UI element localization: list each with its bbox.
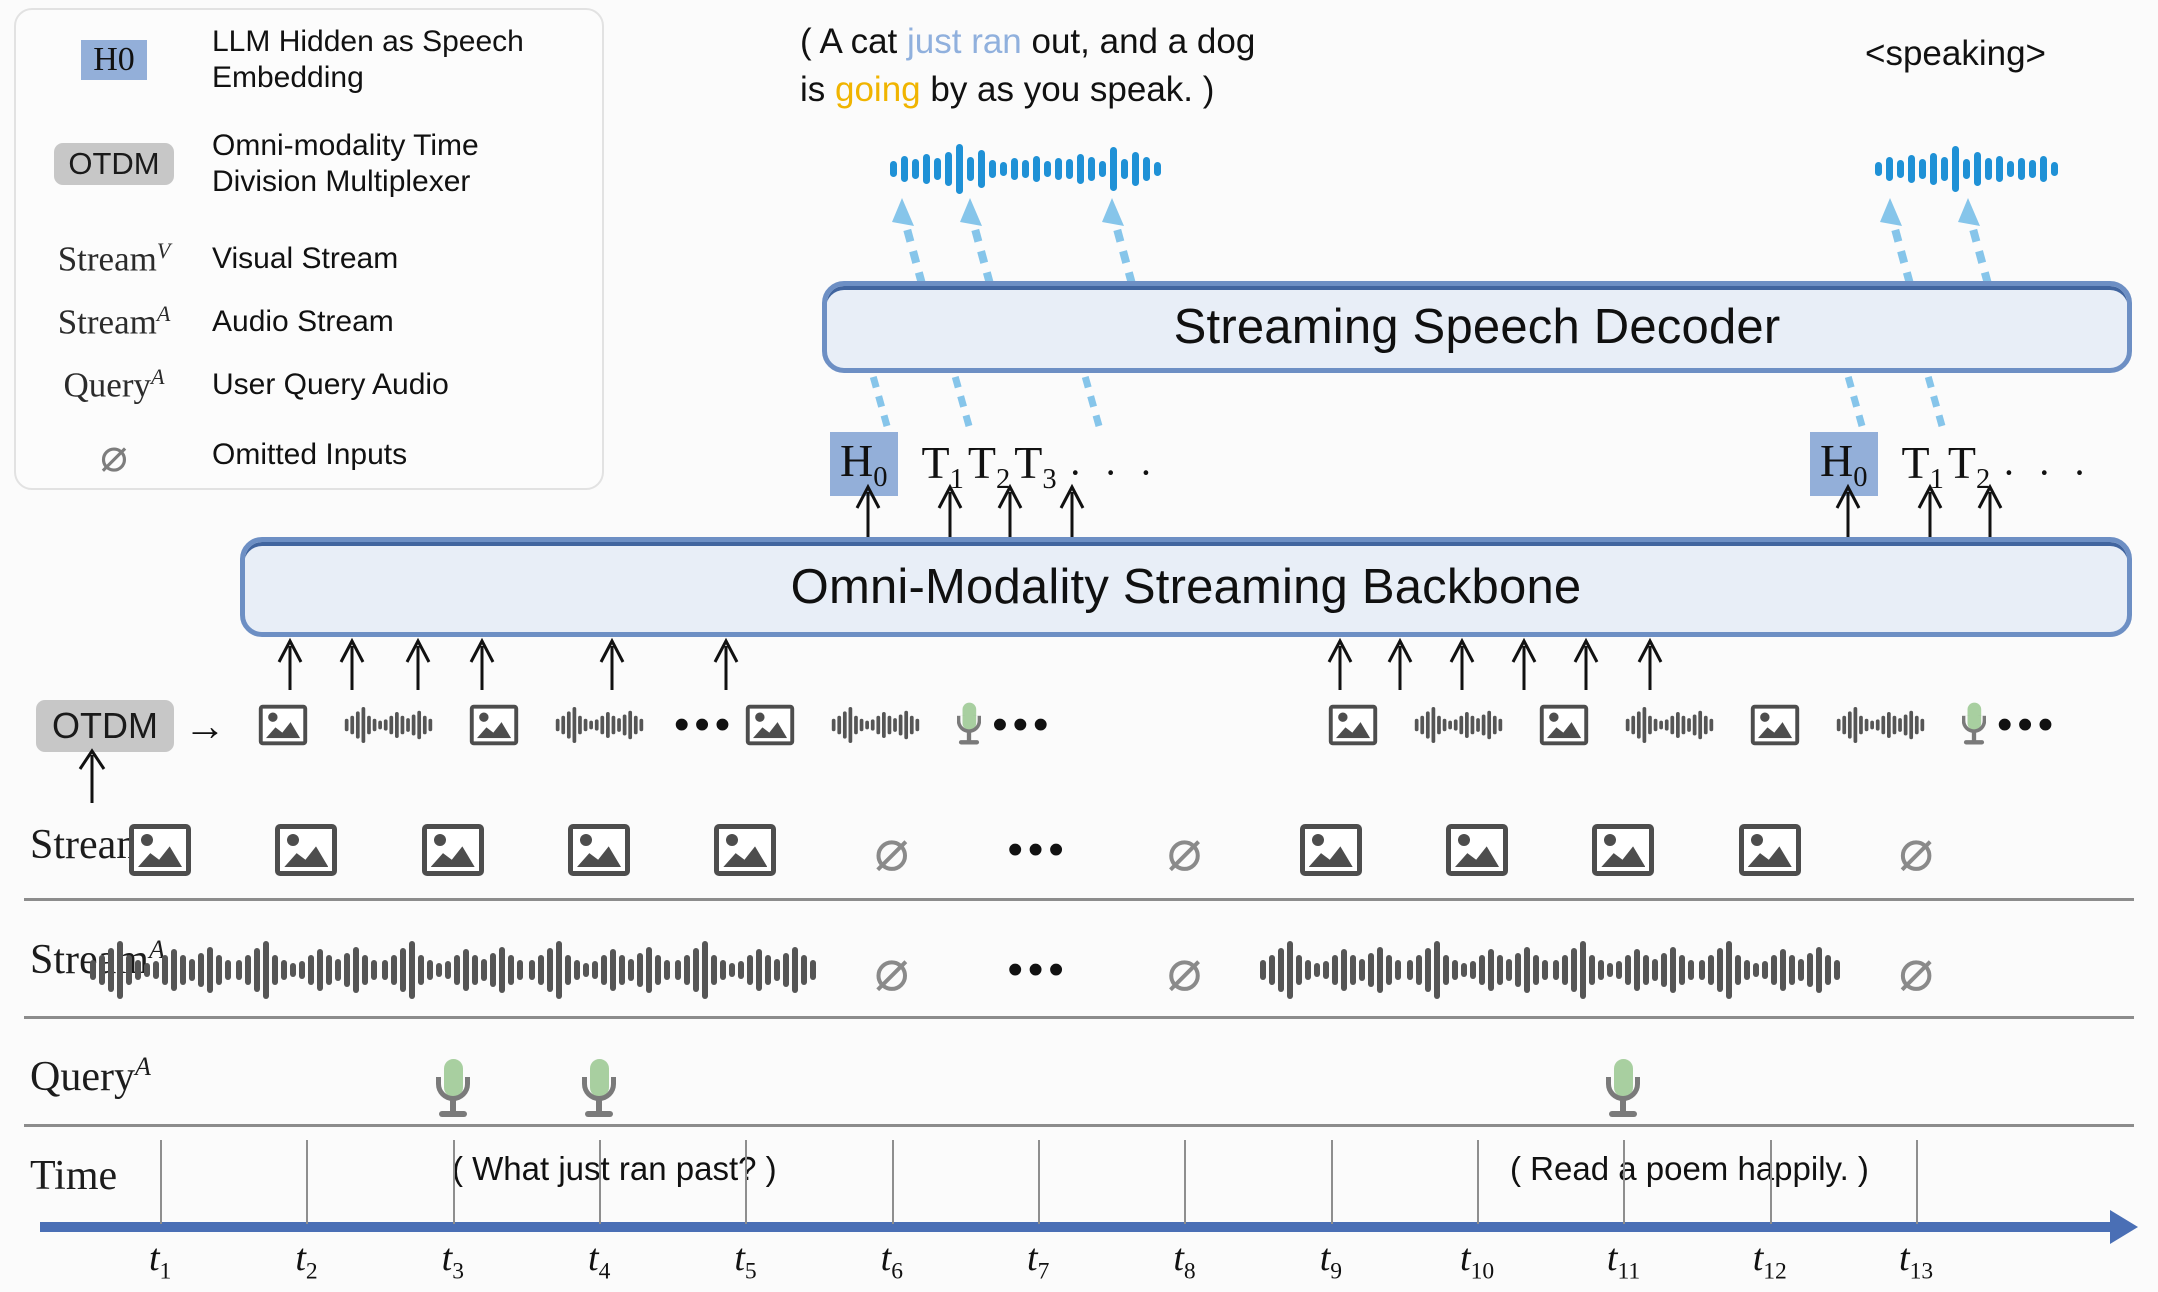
axis-tick [1770,1140,1772,1224]
waveform-bar [412,714,416,735]
waveform-bar [1876,719,1880,730]
waveform-bar [1452,960,1458,980]
audio-waveform-icon [236,939,377,1001]
axis-tick [1916,1140,1918,1224]
waveform-bar [216,955,222,985]
waveform-bar [1314,963,1320,977]
axis-tick-label: t10 [1460,1236,1494,1286]
waveform-bar [378,721,382,730]
waveform-bar [1066,159,1073,179]
waveform-bar [427,960,433,980]
waveform-bar [317,949,323,991]
image-frame-icon [1592,824,1654,876]
waveform-bar [1077,154,1084,184]
waveform-bar [1562,955,1568,985]
waveform-bar [1919,159,1926,179]
waveform-bar [1648,716,1652,735]
waveform-bar [693,948,699,992]
waveform-bar [1930,153,1937,185]
legend-item-stream-a: StreamA Audio Stream [16,301,394,343]
waveform-bar [1415,719,1419,731]
waveform-bar [1816,947,1822,993]
axis-tick-label: t11 [1607,1236,1640,1286]
waveform-bar [901,156,908,182]
axis-tick [306,1140,308,1224]
axis-tick-label: t6 [881,1236,903,1286]
waveform-bar [1825,955,1831,985]
image-frame-icon [470,705,518,746]
divider-2 [24,1016,2134,1019]
otdm-arrow-icon: → [184,702,226,750]
waveform-bar [1425,948,1431,992]
waveform-bar [600,716,604,735]
token-arrow-icon [995,482,1025,540]
waveform-bar [417,711,421,740]
waveform-bar [810,960,816,980]
waveform-bar [1661,953,1667,987]
waveform-bar [765,955,771,985]
image-frame-icon [422,824,484,876]
waveform-bar [1626,719,1630,731]
waveform-bar [1497,955,1503,985]
waveform-bar [1332,955,1338,985]
caption-query-2: ( Read a poem happily. ) [1510,1150,1869,1188]
time-axis-line [40,1222,2118,1232]
axis-tick-label: t13 [1899,1236,1933,1286]
waveform-bar [171,949,177,991]
audio-waveform-icon [1407,939,1548,1001]
waveform-bar [1443,719,1447,731]
waveform-bar [1652,959,1658,981]
waveform-bar [1432,707,1436,743]
waveform-bar [409,941,415,999]
waveform-bar [584,719,588,731]
waveform-bar [1055,158,1062,180]
waveform-bar [538,955,544,985]
waveform-bar [308,955,314,985]
waveform-bar [1011,158,1018,180]
waveform-bar [1359,959,1365,981]
legend-label-query-a: User Query Audio [212,367,449,403]
speech-line-1: ( A cat just ran out, and a dog [800,18,1370,66]
waveform-bar [978,150,985,188]
audio-waveform-icon [1260,939,1401,1001]
waveform-bar [1744,960,1750,980]
waveform-bar [1898,718,1902,732]
axis-tick [1623,1140,1625,1224]
waveform-bar [967,157,974,181]
waveform-bar [634,716,638,735]
axis-tick [160,1140,162,1224]
waveform-bar [1659,721,1663,730]
waveform-bar [1699,960,1705,980]
waveform-bar [574,960,580,980]
speech-seg-2a: is [800,70,835,109]
waveform-bar [1634,949,1640,991]
waveform-bar [890,161,897,177]
waveform-bar [454,955,460,985]
axis-tick [892,1140,894,1224]
token-to-decoder-arrow-icon [1069,372,1115,430]
waveform-bar [849,707,853,743]
waveform-bar [1368,953,1374,987]
omitted-glyph-icon: ⌀ [16,428,212,482]
decoder-to-audio-arrow-icon [884,196,940,288]
divider-1 [24,898,2134,901]
stream-v-base: Stream [58,240,157,279]
waveform-bar [1407,960,1413,980]
waveform-bar [395,712,399,738]
waveform-bar [1341,949,1347,991]
axis-tick [453,1140,455,1224]
waveform-bar [373,719,377,731]
streaming-speech-decoder-box: Streaming Speech Decoder [822,281,2132,373]
waveform-bar [384,719,388,730]
waveform-bar [1643,707,1647,743]
waveform-bar [675,960,681,980]
waveform-bar [401,716,405,735]
waveform-bar [1985,158,1992,180]
waveform-bar [639,719,643,731]
waveform-bar [628,711,632,740]
row-label-time: Time [30,1152,117,1200]
waveform-bar [180,955,186,985]
waveform-bar [1859,716,1863,735]
waveform-bar [923,154,930,184]
waveform-bar [1434,941,1440,999]
waveform-bar [263,941,269,999]
waveform-bar [556,719,560,731]
waveform-bar [888,716,892,735]
image-frame-icon [746,705,794,746]
waveform-bar [362,955,368,985]
waveform-bar [389,716,393,735]
legend-item-h0: H0 LLM Hidden as Speech Embedding [16,24,572,96]
waveform-bar [1437,716,1441,735]
otdm-chip-label: OTDM [54,143,173,185]
waveform-bar [899,714,903,735]
waveform-bar [1881,716,1885,735]
waveform-bar [472,955,478,985]
waveform-bar [1726,941,1732,999]
decoder-to-audio-arrow-icon [1950,196,2006,288]
waveform-bar [623,714,627,735]
waveform-bar [423,716,427,735]
waveform-bar [646,947,652,993]
waveform-bar [529,960,535,980]
audio-waveform-icon [1553,939,1694,1001]
waveform-bar [1395,960,1401,980]
otdm-chip-icon: OTDM [16,143,212,185]
token-to-decoder-arrow-icon [857,372,903,430]
speaking-tag-label: <speaking> [1865,34,2046,74]
waveform-bar [1952,146,1959,192]
waveform-bar [436,963,442,977]
omitted-input-icon: ⌀ [874,941,909,999]
waveform-bar [1670,947,1676,993]
input-arrow-icon [1635,636,1665,692]
token-ellipsis-right: · · · [1992,449,2092,496]
waveform-bar [589,721,593,730]
waveform-bar [1542,960,1548,980]
waveform-bar [1461,963,1467,977]
waveform-bar [882,712,886,738]
waveform-bar [1465,712,1469,738]
waveform-bar [1110,147,1117,191]
waveform-bar [592,961,598,979]
ellipsis-marker: ••• [1008,945,1069,995]
output-waveform-right [1875,140,2058,198]
waveform-bar [1350,955,1356,985]
waveform-bar [1482,714,1486,735]
waveform-bar [1842,716,1846,735]
waveform-bar [916,719,920,731]
otdm-input-arrow-icon [72,745,112,805]
query-a-symbol: QueryA [16,364,212,406]
input-arrow-icon [1325,636,1355,692]
waveform-bar [481,959,487,981]
axis-tick [1477,1140,1479,1224]
waveform-bar [1479,955,1485,985]
axis-tick-label: t8 [1173,1236,1195,1286]
waveform-bar [877,716,881,735]
microphone-icon [580,1059,618,1121]
waveform-bar [738,961,744,979]
waveform-bar [1631,716,1635,735]
axis-tick [1038,1140,1040,1224]
waveform-bar [1420,716,1424,735]
speech-seg-2c: by as you speak. ) [921,70,1215,109]
waveform-bar [344,953,350,987]
waveform-bar [1687,718,1691,732]
legend-item-omitted: ⌀ Omitted Inputs [16,428,407,482]
waveform-bar [1132,152,1139,186]
audio-waveform-icon [556,706,643,744]
waveform-bar [499,947,505,993]
waveform-bar [1143,157,1150,181]
waveform-bar [490,953,496,987]
audio-waveform-icon [832,706,919,744]
legend-label-stream-v: Visual Stream [212,241,398,277]
h0-chip-icon: H0 [16,40,212,80]
waveform-bar [1287,941,1293,999]
audio-waveform-icon [382,939,523,1001]
waveform-bar [1260,960,1266,980]
waveform-bar [350,716,354,735]
omitted-input-icon: ⌀ [1899,821,1934,879]
image-frame-icon [275,824,337,876]
omni-modality-streaming-backbone-box: Omni-Modality Streaming Backbone [240,537,2132,637]
waveform-bar [606,712,610,738]
omitted-input-icon: ⌀ [874,821,909,879]
waveform-bar [1886,157,1893,181]
waveform-bar [1607,963,1613,977]
legend-label-h0: LLM Hidden as Speech Embedding [212,24,572,96]
audio-waveform-icon [1415,706,1502,744]
omitted-input-icon: ⌀ [1167,941,1202,999]
waveform-bar [1454,719,1458,730]
waveform-bar [400,948,406,992]
waveform-bar [406,718,410,732]
token-to-decoder-arrow-icon [939,372,985,430]
waveform-bar [236,960,242,980]
legend-label-omitted: Omitted Inputs [212,437,407,473]
waveform-bar [1386,955,1392,985]
waveform-bar [1735,955,1741,985]
otdm-multiplexed-left: •••••• [252,694,1057,756]
waveform-bar [729,963,735,977]
input-arrow-icon [1509,636,1539,692]
waveform-bar [1426,711,1430,738]
waveform-bar [1470,961,1476,979]
waveform-bar [1305,960,1311,980]
waveform-bar [281,960,287,980]
audio-waveform-icon [1699,939,1840,1001]
waveform-bar [860,719,864,731]
axis-tick [1331,1140,1333,1224]
waveform-bar [1616,961,1622,979]
waveform-bar [418,955,424,985]
waveform-bar [783,953,789,987]
waveform-bar [1654,719,1658,731]
token-arrow-icon [935,482,965,540]
waveform-bar [945,152,952,186]
waveform-bar [1698,711,1702,740]
otdm-multiplexed-right: ••• [1322,694,2062,756]
image-frame-icon [129,824,191,876]
waveform-bar [353,947,359,993]
waveform-bar [1625,955,1631,985]
waveform-bar [684,955,690,985]
waveform-bar [99,955,105,985]
image-frame-icon [259,705,307,746]
input-arrow-icon [403,636,433,692]
waveform-bar [108,948,114,992]
output-waveform-left [890,140,1161,198]
waveform-bar [838,716,842,735]
waveform-bar [1515,953,1521,987]
waveform-bar [747,955,753,985]
waveform-bar [1920,719,1924,731]
waveform-bar [1870,721,1874,730]
waveform-bar [1643,955,1649,985]
waveform-bar [1679,955,1685,985]
waveform-bar [1506,959,1512,981]
stream-a-base: Stream [58,303,157,342]
waveform-bar [198,953,204,987]
ellipsis-marker: ••• [992,700,1053,750]
waveform-bar [792,947,798,993]
waveform-bar [1848,711,1852,738]
token-to-decoder-arrow-icon [1832,372,1878,430]
waveform-bar [1682,716,1686,735]
image-frame-icon [1739,824,1801,876]
audio-waveform-icon [90,939,231,1001]
waveform-bar [1688,960,1694,980]
decoder-label: Streaming Speech Decoder [1174,299,1781,355]
microphone-icon [1604,1059,1642,1121]
waveform-bar [1854,707,1858,743]
image-frame-icon [1300,824,1362,876]
waveform-bar [578,716,582,735]
waveform-bar [1571,948,1577,992]
axis-tick-label: t7 [1027,1236,1049,1286]
legend-item-query-a: QueryA User Query Audio [16,364,449,406]
waveform-bar [335,959,341,981]
token-arrow-icon [1975,482,2005,540]
waveform-bar [565,955,571,985]
waveform-bar [1533,955,1539,985]
waveform-bar [1269,955,1275,985]
ellipsis-marker: ••• [1008,825,1069,875]
axis-tick-label: t5 [734,1236,756,1286]
waveform-bar [207,947,213,993]
waveform-bar [463,949,469,991]
audio-waveform-icon [345,706,432,744]
image-frame-icon [1446,824,1508,876]
waveform-bar [1798,959,1804,981]
waveform-bar [1099,161,1106,177]
waveform-bar [910,716,914,735]
waveform-bar [1088,157,1095,181]
waveform-bar [428,719,432,731]
audio-waveform-icon [529,939,670,1001]
waveform-bar [854,716,858,735]
waveform-bar [382,960,388,980]
token-arrow-icon [853,482,883,540]
speech-seg-1a: ( A cat [800,22,907,61]
waveform-bar [1670,716,1674,735]
waveform-bar [517,960,523,980]
query-a-base: Query [64,366,151,405]
audio-waveform-icon [1837,706,1924,744]
decoder-to-audio-arrow-icon [1872,196,1928,288]
waveform-bar [1598,960,1604,980]
waveform-bar [1448,721,1452,730]
waveform-bar [1780,949,1786,991]
token-arrow-icon [1057,482,1087,540]
waveform-bar [1121,159,1128,179]
omitted-input-icon: ⌀ [1167,821,1202,879]
waveform-bar [1524,947,1530,993]
waveform-bar [1807,953,1813,987]
waveform-bar [1897,160,1904,178]
waveform-bar [371,960,377,980]
waveform-bar [1471,716,1475,735]
waveform-bar [547,948,553,992]
waveform-bar [1753,963,1759,977]
divider-3 [24,1124,2134,1127]
waveform-bar [367,716,371,735]
h0-chip-label: H0 [93,41,135,78]
waveform-bar [1665,719,1669,730]
waveform-bar [893,718,897,732]
backbone-label: Omni-Modality Streaming Backbone [791,559,1582,615]
waveform-bar [1033,156,1040,182]
axis-tick-label: t9 [1320,1236,1342,1286]
waveform-bar [2040,156,2047,182]
decoder-to-audio-arrow-icon [952,196,1008,288]
waveform-bar [655,955,661,985]
waveform-bar [391,955,397,985]
waveform-bar [2051,162,2058,176]
waveform-bar [1476,718,1480,732]
token-arrow-icon [1915,482,1945,540]
waveform-bar [1771,955,1777,985]
waveform-bar [1693,714,1697,735]
image-frame-icon [1540,705,1588,746]
ellipsis-marker: ••• [1997,700,2058,750]
